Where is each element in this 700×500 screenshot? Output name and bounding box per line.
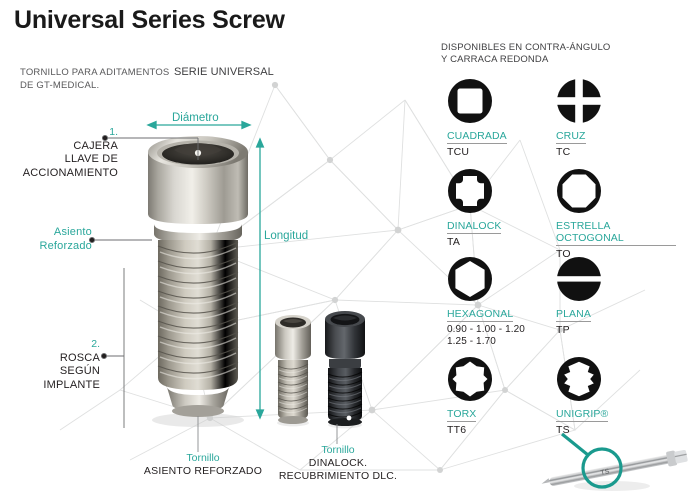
callout-asiento: Asiento Reforzado <box>0 226 92 253</box>
drivers-panel-heading-line-2: Y CARRACA REDONDA <box>441 54 610 66</box>
torx-driver-icon <box>447 356 493 402</box>
screwdriver-tool-illustration: TS <box>540 418 700 498</box>
driver-name-cruz: CRUZ <box>556 130 586 144</box>
callout-cajera-line-2: LLAVE DE <box>0 153 118 167</box>
driver-name-plana: PLANA <box>556 308 591 322</box>
driver-name-estrella-octogonal: ESTRELLA OCTOGONAL <box>556 220 676 246</box>
driver-name-dinalock: DINALOCK <box>447 220 501 234</box>
callout-rosca: 2. ROSCA SEGÚN IMPLANTE <box>0 338 100 392</box>
driver-item-dinalock[interactable]: DINALOCK TA <box>447 168 567 248</box>
callout-rosca-line-2: SEGÚN <box>0 365 100 379</box>
driver-item-cuadrada[interactable]: CUADRADA TCU <box>447 78 567 158</box>
driver-tool-pointer-line <box>562 434 588 455</box>
poster-canvas: Universal Series Screw TORNILLO PARA ADI… <box>0 0 700 500</box>
driver-tool-marking: TS <box>600 468 610 477</box>
driver-code-cruz: TC <box>556 146 676 158</box>
driver-name-hexagonal: HEXAGONAL <box>447 308 513 322</box>
callout-asiento-line-2: Reforzado <box>0 240 92 254</box>
caption-dinalock-teal: Tornillo <box>268 444 408 457</box>
callout-rosca-line-1: ROSCA <box>0 352 100 366</box>
callout-cajera: 1. CAJERA LLAVE DE ACCIONAMIENTO <box>0 126 118 180</box>
caption-dinalock-dark-2: RECUBRIMIENTO DLC. <box>268 470 408 483</box>
drivers-panel-heading-line-1: DISPONIBLES EN CONTRA-ÁNGULO <box>441 42 610 54</box>
driver-item-hexagonal[interactable]: HEXAGONAL 0.90 - 1.00 - 1.20 1.25 - 1.70 <box>447 256 567 347</box>
callout-cajera-line-3: ACCIONAMIENTO <box>0 167 118 181</box>
driver-item-cruz[interactable]: CRUZ TC <box>556 78 676 158</box>
unigrip-driver-icon <box>556 356 602 402</box>
driver-name-cuadrada: CUADRADA <box>447 130 507 144</box>
cross-driver-icon <box>556 78 602 124</box>
callout-asiento-line-1: Asiento <box>0 226 92 240</box>
dinalock-driver-icon <box>447 168 493 214</box>
square-driver-icon <box>447 78 493 124</box>
caption-tornillo-dinalock: Tornillo DINALOCK. RECUBRIMIENTO DLC. <box>268 444 408 483</box>
driver-code-plana: TP <box>556 324 676 336</box>
flat-driver-icon <box>556 256 602 302</box>
drivers-panel-heading: DISPONIBLES EN CONTRA-ÁNGULO Y CARRACA R… <box>441 42 610 66</box>
callout-cajera-line-1: CAJERA <box>0 140 118 154</box>
driver-dims-hexagonal: 0.90 - 1.00 - 1.20 1.25 - 1.70 <box>447 324 567 347</box>
hexagonal-driver-icon <box>447 256 493 302</box>
diameter-label: Diámetro <box>172 112 219 124</box>
length-label: Longitud <box>264 230 308 242</box>
callout-cajera-number: 1. <box>0 126 118 140</box>
driver-code-cuadrada: TCU <box>447 146 567 158</box>
caption-dinalock-dark-1: DINALOCK. <box>268 457 408 470</box>
driver-item-estrella-octogonal[interactable]: ESTRELLA OCTOGONAL TO <box>556 168 676 260</box>
driver-item-plana[interactable]: PLANA TP <box>556 256 676 336</box>
driver-code-dinalock: TA <box>447 236 567 248</box>
callout-rosca-number: 2. <box>0 338 100 352</box>
octagonal-star-driver-icon <box>556 168 602 214</box>
driver-name-torx: TORX <box>447 408 476 422</box>
callout-rosca-line-3: IMPLANTE <box>0 379 100 393</box>
